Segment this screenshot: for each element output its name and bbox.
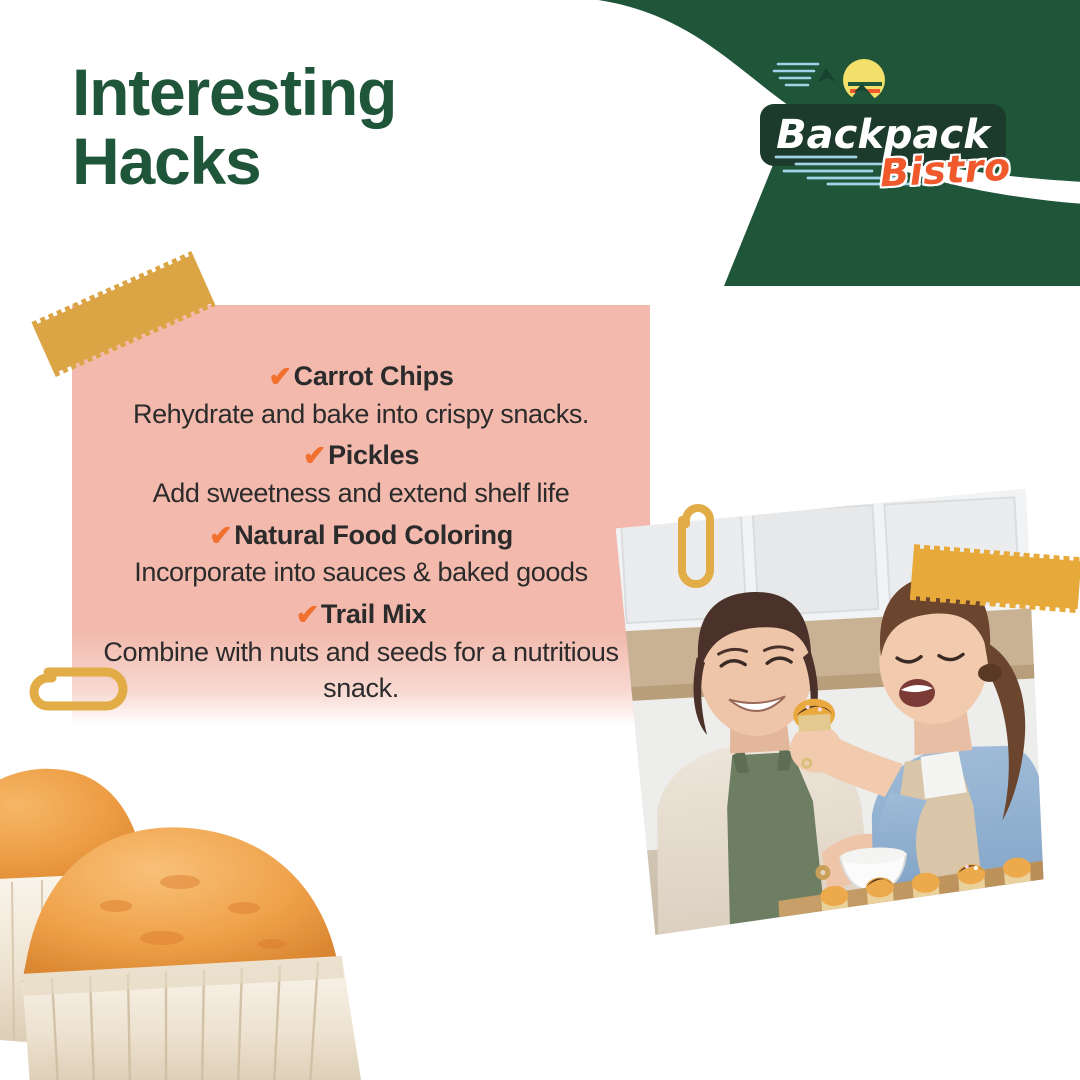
- check-icon: ✔: [209, 517, 232, 556]
- list-item-desc: Combine with nuts and seeds for a nutrit…: [90, 634, 632, 707]
- list-item-desc: Add sweetness and extend shelf life: [90, 475, 632, 512]
- list-item-title-text: Pickles: [328, 440, 419, 470]
- logo-brand-script: Bistro: [879, 145, 1012, 196]
- list-item-title: ✔Natural Food Coloring: [90, 516, 632, 555]
- paperclip-photo-icon: [666, 494, 722, 594]
- paperclip-card-icon: [18, 656, 138, 722]
- carrot-muffins-image: [0, 716, 396, 1080]
- check-icon: ✔: [268, 358, 291, 397]
- list-item-title-text: Trail Mix: [321, 599, 426, 629]
- list-item-title: ✔Carrot Chips: [90, 357, 632, 396]
- list-item-desc: Rehydrate and bake into crispy snacks.: [90, 396, 632, 433]
- hacks-list: ✔Carrot Chips Rehydrate and bake into cr…: [72, 305, 650, 725]
- page-title-line-1: Interesting: [72, 55, 396, 129]
- page-title-line-2: Hacks: [72, 127, 592, 196]
- check-icon: ✔: [296, 596, 319, 635]
- brand-logo[interactable]: Backpack Bistro: [752, 52, 1020, 202]
- list-item-title-text: Carrot Chips: [294, 361, 454, 391]
- washi-tape-photo: [910, 548, 1080, 609]
- poster-canvas: Interesting Hacks Backpack: [0, 0, 1080, 1080]
- list-item-title-text: Natural Food Coloring: [234, 520, 513, 550]
- list-item-desc: Incorporate into sauces & baked goods: [90, 554, 632, 591]
- page-title: Interesting Hacks: [72, 58, 592, 195]
- check-icon: ✔: [303, 437, 326, 476]
- list-item-title: ✔Pickles: [90, 436, 632, 475]
- list-item-title: ✔Trail Mix: [90, 595, 632, 634]
